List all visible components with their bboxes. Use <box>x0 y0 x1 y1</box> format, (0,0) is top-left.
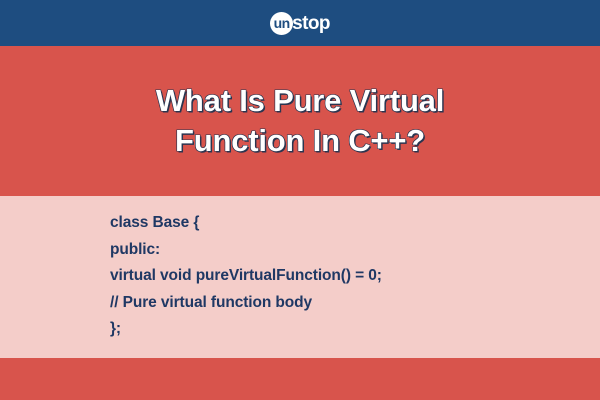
unstop-logo[interactable]: un stop <box>270 10 330 36</box>
page-title-line-1: What Is Pure Virtual <box>156 81 444 121</box>
page-title-line-2: Function In C++? <box>175 121 425 161</box>
code-line: }; <box>110 316 600 343</box>
code-line: class Base { <box>110 210 600 237</box>
header-band: un stop <box>0 0 600 46</box>
footer-band <box>0 358 600 400</box>
unstop-circle-icon: un <box>270 12 293 35</box>
code-line: public: <box>110 237 600 264</box>
unstop-logo-word: stop <box>292 14 330 33</box>
poster-canvas: un stop What Is Pure Virtual Function In… <box>0 0 600 400</box>
unstop-logo-mark-text: un <box>274 16 290 30</box>
title-band: What Is Pure Virtual Function In C++? <box>0 46 600 196</box>
code-line: virtual void pureVirtualFunction() = 0; <box>110 263 600 290</box>
code-block: class Base { public: virtual void pureVi… <box>0 196 600 358</box>
code-line: // Pure virtual function body <box>110 290 600 317</box>
